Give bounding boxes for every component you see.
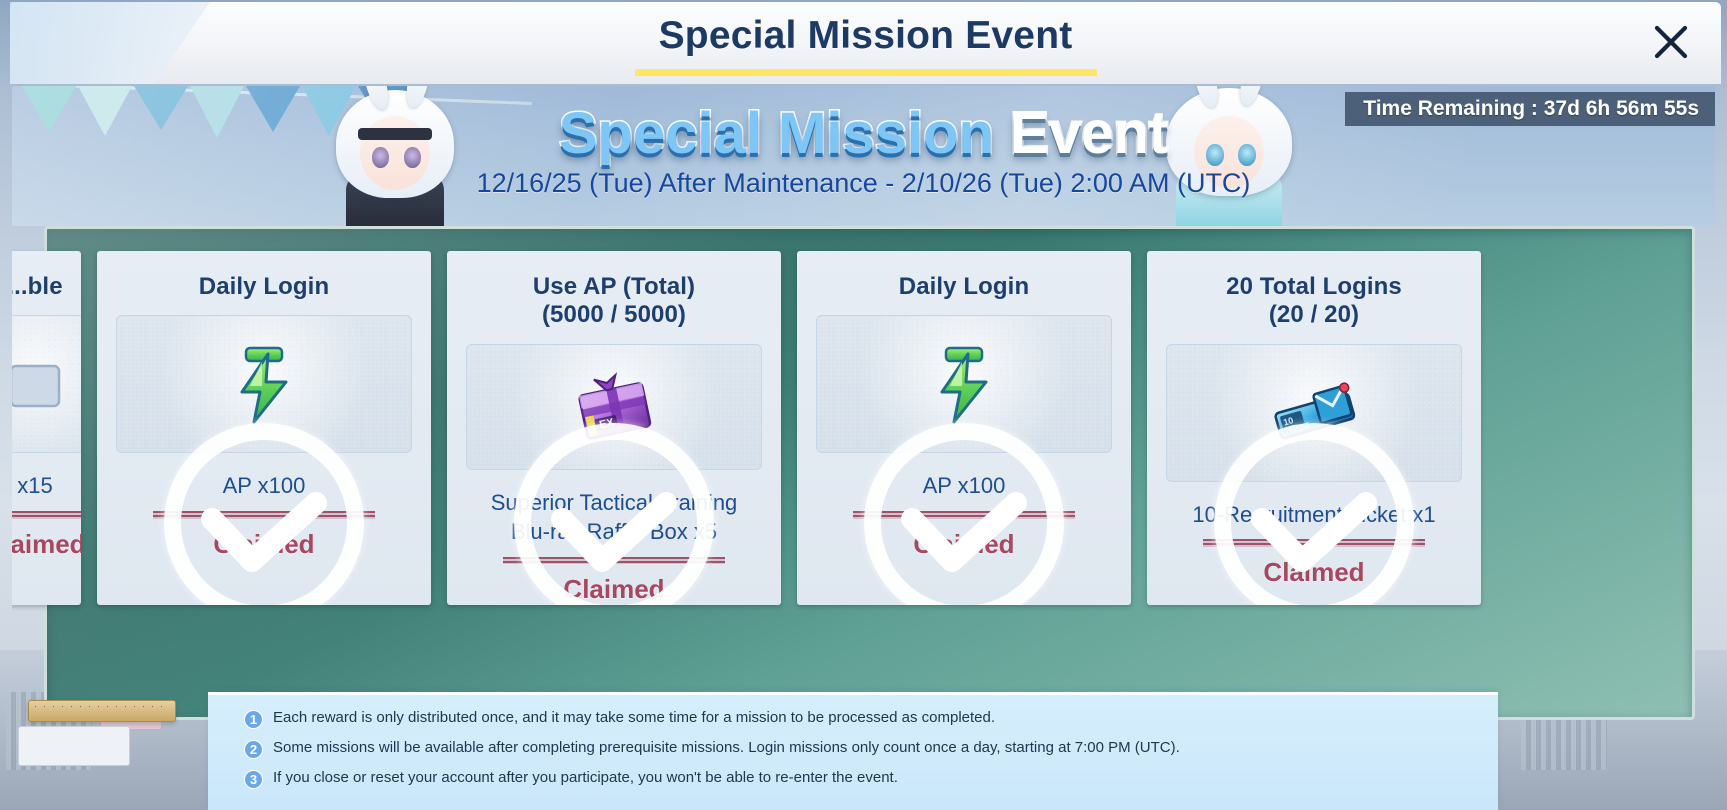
reward-frame	[116, 315, 412, 453]
reward-frame	[12, 315, 81, 453]
note-text: Each reward is only distributed once, an…	[273, 709, 995, 727]
status-badge: Claimed	[12, 529, 81, 560]
event-banner: Special Mission Event 12/16/25 (Tue) Aft…	[12, 86, 1715, 226]
recruitment-ticket-icon: 10 TICKET	[1266, 365, 1362, 461]
blu-ray-raffle-box-icon: EX	[566, 359, 662, 455]
reward-label: AP x100	[109, 471, 419, 500]
reward-label: Superior Tactical Training Blu-ray Raffl…	[459, 488, 769, 547]
note-row: 3 If you close or reset your account aft…	[244, 769, 1478, 789]
mission-title: Use AP (Total) (5000 / 5000)	[533, 273, 695, 330]
reward-label: x15	[12, 471, 81, 500]
mission-title: Daily Login	[899, 273, 1029, 301]
ap-lightning-icon	[216, 336, 312, 432]
status-badge: Claimed	[1263, 557, 1364, 588]
mission-title: 20 Total Logins (20 / 20)	[1226, 273, 1402, 330]
title-underline	[635, 69, 1097, 76]
mission-title: Daily Login	[199, 273, 329, 301]
note-row: 1 Each reward is only distributed once, …	[244, 709, 1478, 729]
reward-divider	[12, 511, 81, 519]
desk-ruler-decoration	[28, 700, 176, 722]
banner-title-secondary: Event	[1010, 101, 1168, 166]
dialog-titlebar: Special Mission Event	[10, 2, 1721, 84]
close-button[interactable]	[1645, 16, 1697, 68]
unknown-item-icon	[12, 336, 81, 432]
mission-card[interactable]: Use AP (Total) (5000 / 5000) EX Superior…	[447, 251, 781, 605]
mission-board: ...ble x15 Claimed Daily Login AP x100 C…	[44, 226, 1695, 720]
mission-list[interactable]: ...ble x15 Claimed Daily Login AP x100 C…	[47, 251, 1692, 605]
status-badge: Claimed	[563, 574, 664, 605]
notes-panel: 1 Each reward is only distributed once, …	[208, 692, 1498, 810]
page-title: Special Mission Event	[10, 14, 1721, 58]
reward-divider	[503, 557, 725, 564]
ap-lightning-icon	[916, 336, 1012, 432]
banner-title-primary: Special Mission	[559, 101, 994, 166]
reward-frame: EX	[466, 344, 762, 471]
status-badge: Claimed	[213, 529, 314, 560]
note-text: Some missions will be available after co…	[273, 739, 1180, 757]
mission-card[interactable]: 20 Total Logins (20 / 20) 10 TICKET 10-R…	[1147, 251, 1481, 605]
mission-card[interactable]: ...ble x15 Claimed	[12, 251, 81, 605]
reward-divider	[1203, 539, 1425, 547]
reward-label: AP x100	[809, 471, 1119, 500]
time-remaining-badge: Time Remaining : 37d 6h 56m 55s	[1345, 92, 1715, 126]
unknown-item-icon	[12, 336, 81, 432]
event-dates: 12/16/25 (Tue) After Maintenance - 2/10/…	[12, 168, 1715, 199]
reward-divider	[853, 511, 1075, 519]
desk-notepad-decoration	[18, 726, 130, 766]
note-number-badge: 1	[244, 710, 263, 729]
ap-lightning-icon	[916, 336, 1012, 432]
close-icon	[1651, 22, 1691, 62]
reward-label: 10-Recruitment Ticket x1	[1159, 500, 1469, 529]
mission-title: ...ble	[12, 273, 63, 301]
note-row: 2 Some missions will be available after …	[244, 739, 1478, 759]
mission-card[interactable]: Daily Login AP x100 Claimed	[797, 251, 1131, 605]
special-mission-event-dialog: Special Mission Event	[0, 0, 1727, 810]
reward-frame	[816, 315, 1112, 453]
reward-frame: 10 TICKET	[1166, 344, 1462, 482]
event-panel: Special Mission Event 12/16/25 (Tue) Aft…	[12, 86, 1715, 720]
ap-lightning-icon	[216, 336, 312, 432]
note-number-badge: 3	[244, 770, 263, 789]
recruitment-ticket-icon: 10 TICKET	[1266, 365, 1362, 461]
status-badge: Claimed	[913, 529, 1014, 560]
note-text: If you close or reset your account after…	[273, 769, 898, 787]
note-number-badge: 2	[244, 740, 263, 759]
blu-ray-raffle-box-icon: EX	[566, 359, 662, 455]
mission-card[interactable]: Daily Login AP x100 Claimed	[97, 251, 431, 605]
reward-divider	[153, 511, 375, 519]
